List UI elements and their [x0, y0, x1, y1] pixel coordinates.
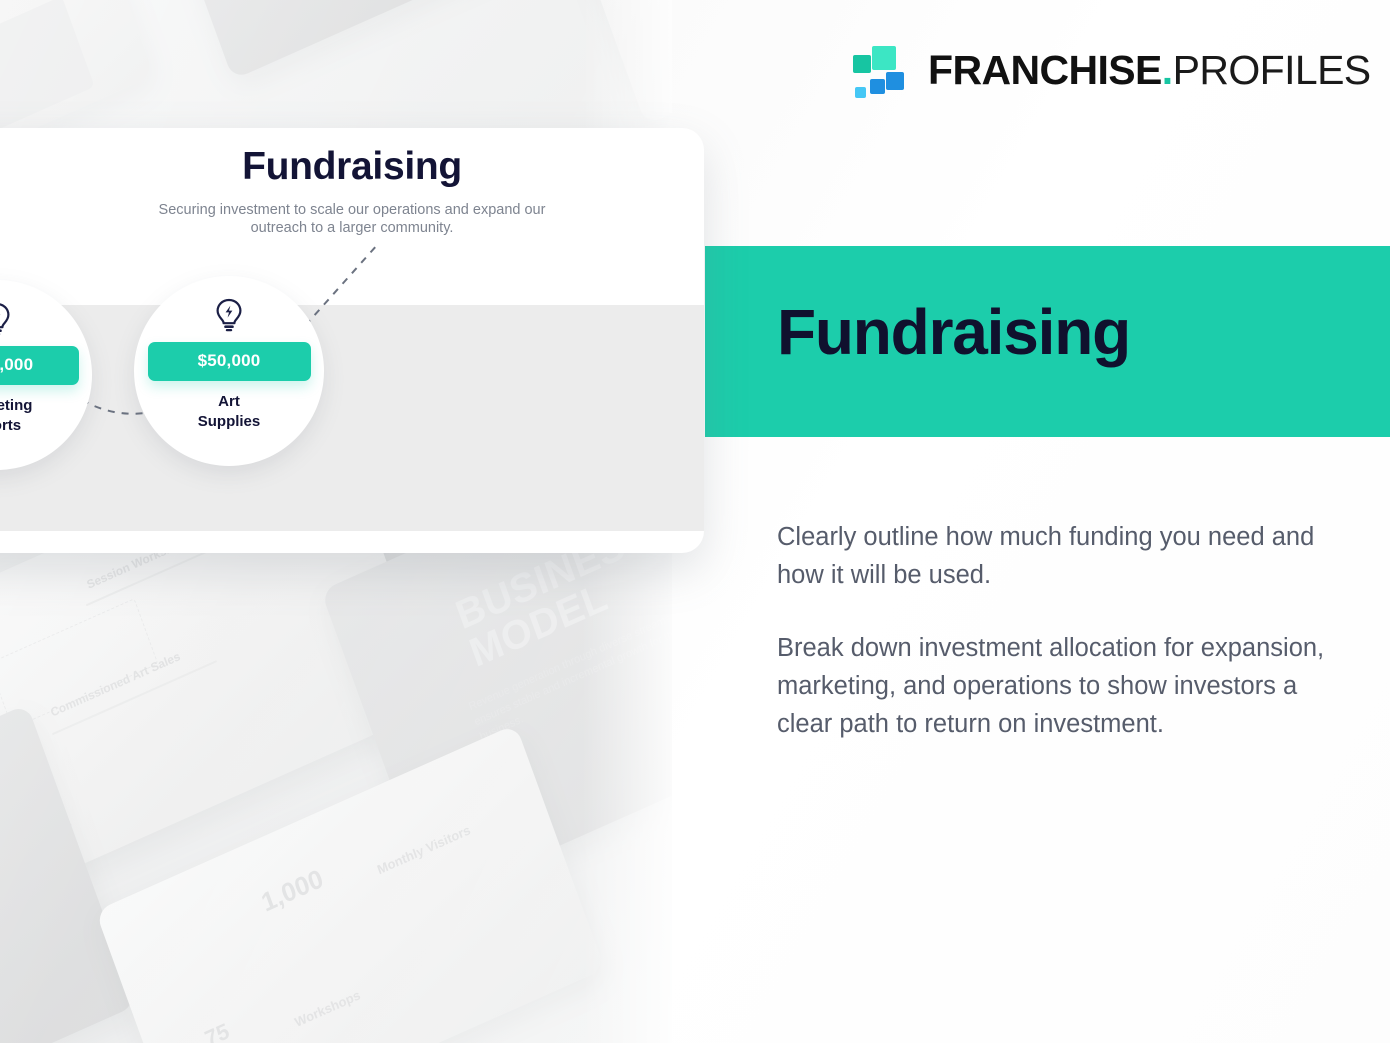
deck-stat-value-workshops: 75 — [202, 1018, 233, 1043]
deck-stat-value-visitors: 1,000 — [257, 863, 327, 919]
brand-dot: . — [1162, 47, 1173, 93]
allocation-label-marketing-efforts: Marketing Efforts — [0, 396, 32, 436]
deck-stat-label-workshops: Workshops — [293, 987, 363, 1032]
slide-canvas: MARKET spaces in urban and suburban area… — [0, 0, 1390, 1043]
fundraising-preview-card: Fundraising Securing investment to scale… — [0, 128, 704, 553]
brand-wordmark: FRANCHISE.PROFILES — [928, 50, 1371, 91]
allocation-amount-art-supplies: $50,000 — [148, 342, 311, 381]
content-panel: FRANCHISE.PROFILES Fundraising Clearly o… — [672, 0, 1390, 1043]
description-paragraph-2: Break down investment allocation for exp… — [777, 629, 1359, 744]
allocation-label-art-supplies: Art Supplies — [198, 392, 261, 432]
lightbulb-bolt-icon — [214, 298, 244, 332]
logo-square-blue-large — [886, 72, 904, 90]
section-description: Clearly outline how much funding you nee… — [777, 518, 1359, 743]
brand-word-profiles: PROFILES — [1173, 47, 1371, 93]
section-title: Fundraising — [777, 300, 1130, 364]
brand-word-franchise: FRANCHISE — [928, 47, 1162, 93]
allocation-amount-marketing-efforts: $150,000 — [0, 346, 79, 385]
allocation-node-marketing-efforts[interactable]: $150,000 Marketing Efforts — [0, 280, 92, 470]
franchise-profiles-logo-icon — [850, 42, 906, 98]
description-paragraph-1: Clearly outline how much funding you nee… — [777, 518, 1359, 595]
deck-slide-problem-top: THE PROBLEM Many individuals and communi… — [144, 0, 626, 80]
allocation-node-art-supplies[interactable]: $50,000 Art Supplies — [134, 276, 324, 466]
brand-lockup: FRANCHISE.PROFILES — [850, 42, 1371, 98]
deck-slide-problem-items: Lack of Accessibility Limited Resources … — [533, 0, 672, 125]
logo-square-sky — [855, 87, 866, 98]
lightbulb-bolt-icon — [0, 302, 12, 336]
deck-stat-label-visitors: Monthly Visitors — [375, 822, 473, 879]
allocation-node-group: $150,000 Space Expansion $150,000 Market… — [0, 128, 704, 553]
deck-item-label-costs: High Costs — [657, 10, 672, 68]
logo-square-teal — [853, 55, 871, 73]
logo-square-blue-small — [870, 79, 885, 94]
logo-square-mint — [872, 46, 896, 70]
